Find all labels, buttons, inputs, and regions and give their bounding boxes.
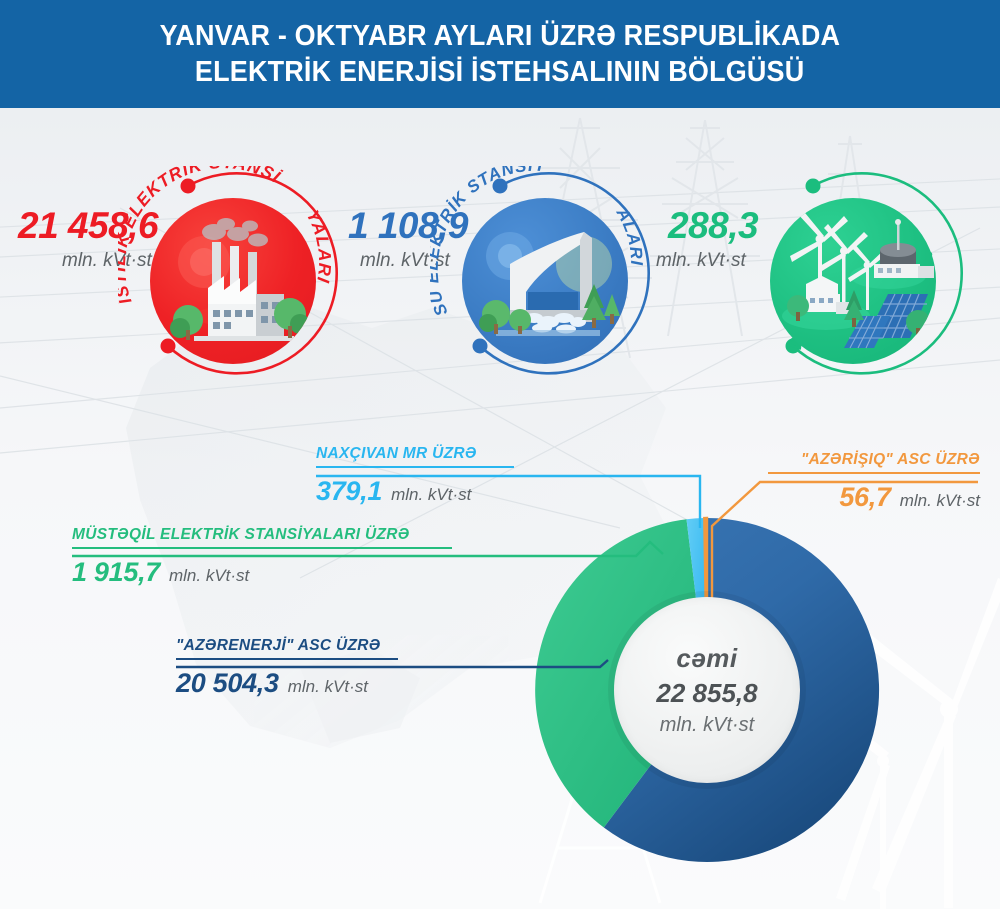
donut-center-total: cəmi 22 855,8 mln. kVt·st [614, 597, 800, 783]
callout-unit-naxcivan: mln. kVt·st [391, 485, 471, 505]
callout-rule-azerisiq [768, 472, 980, 474]
donut-center-unit: mln. kVt·st [660, 714, 754, 737]
callout-unit-azerisiq: mln. kVt·st [900, 491, 980, 511]
callout-unit-musteqil: mln. kVt·st [169, 566, 249, 586]
callout-value-azerenerji: 20 504,3 [176, 668, 279, 699]
callout-value-azerisiq: 56,7 [839, 482, 890, 513]
callout-caption-azerenerji: "AZƏRENERJİ" ASC ÜZRƏ [176, 637, 398, 658]
callout-value-musteqil: 1 915,7 [72, 557, 160, 588]
callout-caption-naxcivan: NAXÇIVAN MR ÜZRƏ [316, 445, 514, 466]
donut-center-label: cəmi [676, 643, 737, 674]
callout-unit-azerenerji: mln. kVt·st [288, 677, 368, 697]
callout-rule-azerenerji [176, 658, 398, 660]
callout-rule-musteqil [72, 547, 452, 549]
donut-center-value: 22 855,8 [656, 678, 757, 709]
callout-rule-naxcivan [316, 466, 514, 468]
callout-label-azerisiq[interactable]: "AZƏRİŞIQ" ASC ÜZRƏ 56,7 mln. kVt·st [768, 451, 980, 513]
infographic-page: YANVAR - OKTYABR AYLARI ÜZRƏ RESPUBLİKAD… [0, 0, 1000, 909]
callout-label-musteqil[interactable]: MÜSTƏQİL ELEKTRİK STANSİYALARI ÜZRƏ 1 91… [72, 526, 452, 588]
callout-label-azerenerji[interactable]: "AZƏRENERJİ" ASC ÜZRƏ 20 504,3 mln. kVt·… [176, 637, 398, 699]
callout-caption-azerisiq: "AZƏRİŞIQ" ASC ÜZRƏ [768, 451, 980, 472]
callout-value-naxcivan: 379,1 [316, 476, 382, 507]
callout-label-naxcivan[interactable]: NAXÇIVAN MR ÜZRƏ 379,1 mln. kVt·st [316, 445, 514, 507]
callout-caption-musteqil: MÜSTƏQİL ELEKTRİK STANSİYALARI ÜZRƏ [72, 526, 452, 547]
